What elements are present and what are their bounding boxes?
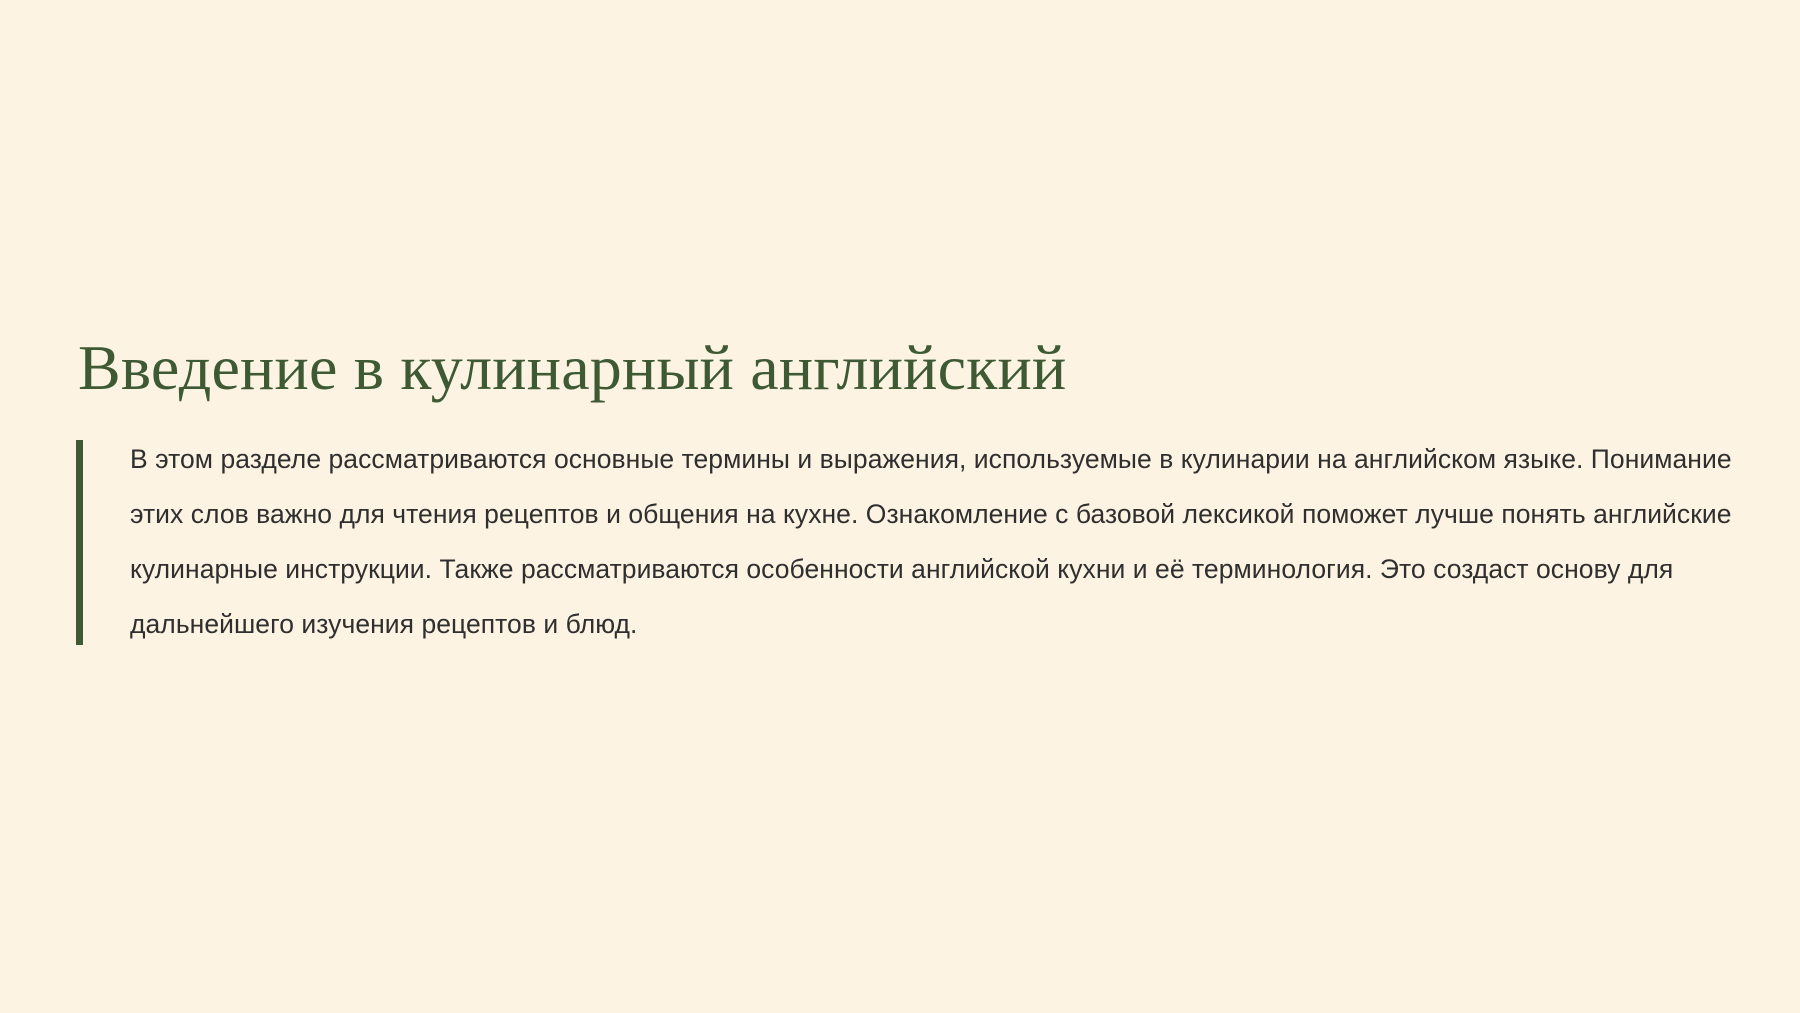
body-quote-block: В этом разделе рассматриваются основные … — [76, 432, 1756, 652]
slide-content: Введение в кулинарный английский В этом … — [76, 330, 1756, 652]
page-title: Введение в кулинарный английский — [78, 330, 1756, 406]
body-paragraph: В этом разделе рассматриваются основные … — [130, 432, 1750, 652]
slide-canvas: Введение в кулинарный английский В этом … — [0, 0, 1800, 1013]
accent-bar — [76, 440, 83, 645]
